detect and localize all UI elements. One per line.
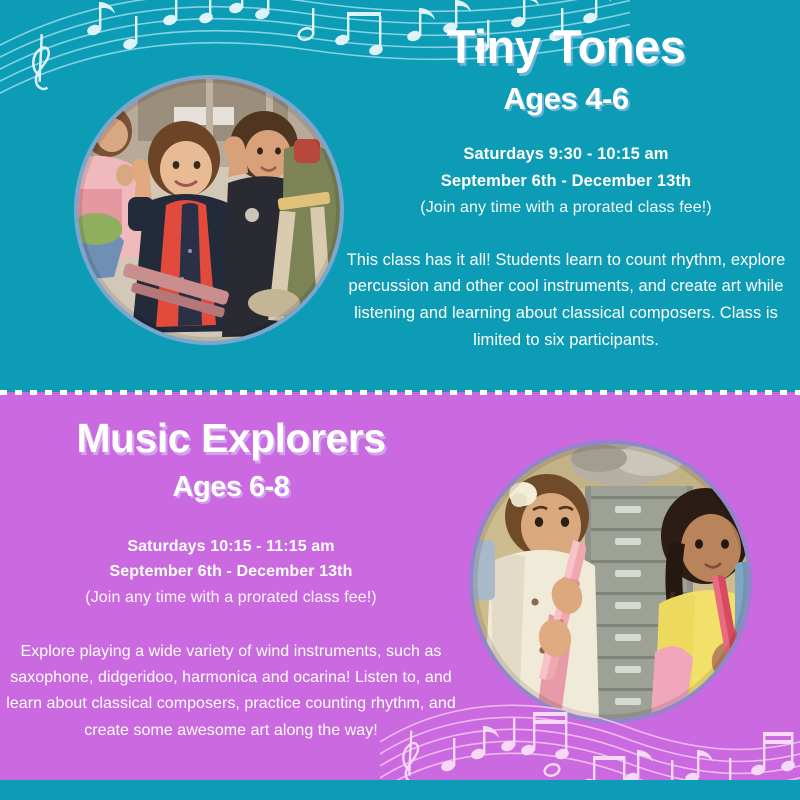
section-music-explorers: Music Explorers Ages 6-8 Saturdays 10:15…: [0, 392, 800, 780]
tiny-tones-text-block: Tiny Tones Ages 4-6 Saturdays 9:30 - 10:…: [336, 22, 796, 354]
tiny-tones-title: Tiny Tones: [336, 22, 796, 73]
tiny-tones-schedule-time: Saturdays 9:30 - 10:15 am: [336, 141, 796, 168]
music-explorers-schedule-dates: September 6th - December 13th: [6, 559, 456, 585]
music-explorers-schedule-time: Saturdays 10:15 - 11:15 am: [6, 534, 456, 560]
tiny-tones-photo: [78, 79, 340, 341]
tiny-tones-schedule-note: (Join any time with a prorated class fee…: [336, 195, 796, 221]
tiny-tones-ages: Ages 4-6: [336, 82, 796, 115]
music-explorers-schedule: Saturdays 10:15 - 11:15 am September 6th…: [6, 534, 456, 612]
bottom-teal-strip: [0, 780, 800, 800]
music-explorers-title: Music Explorers: [6, 416, 456, 460]
music-explorers-schedule-note: (Join any time with a prorated class fee…: [6, 585, 456, 611]
music-explorers-text-block: Music Explorers Ages 6-8 Saturdays 10:15…: [6, 416, 456, 744]
music-explorers-ages: Ages 6-8: [6, 472, 456, 503]
section-tiny-tones: Tiny Tones Ages 4-6 Saturdays 9:30 - 10:…: [0, 0, 800, 392]
tiny-tones-description: This class has it all! Students learn to…: [336, 247, 796, 355]
tiny-tones-schedule: Saturdays 9:30 - 10:15 am September 6th …: [336, 141, 796, 220]
class-schedule-poster: Tiny Tones Ages 4-6 Saturdays 9:30 - 10:…: [0, 0, 800, 800]
classroom-children-photo-illustration: [78, 79, 340, 341]
tiny-tones-schedule-dates: September 6th - December 13th: [336, 168, 796, 195]
girls-playing-recorders-photo-illustration: [473, 444, 748, 719]
dashed-divider: [0, 390, 800, 395]
music-explorers-description: Explore playing a wide variety of wind i…: [6, 639, 456, 743]
music-explorers-photo: [473, 444, 748, 719]
